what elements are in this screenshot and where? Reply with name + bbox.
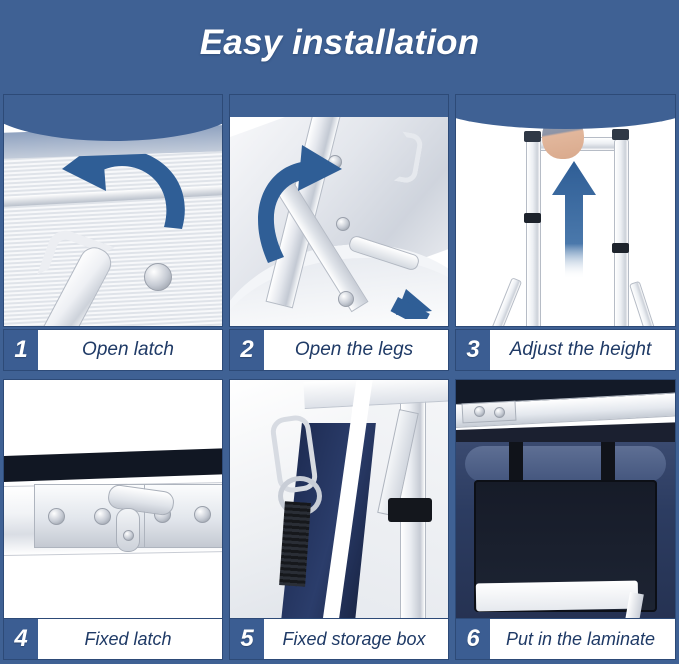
step-caption-1: 1 Open latch (3, 329, 223, 371)
blue-backdrop (455, 95, 676, 129)
pivot-screw (123, 530, 134, 541)
bracket-rivet (494, 407, 505, 418)
foot-strut (489, 277, 522, 327)
leg-cap-right (612, 129, 629, 140)
foot-strut (629, 281, 658, 327)
step-photo-2 (229, 94, 449, 327)
leg-tube-right (614, 139, 629, 327)
step-caption-text-4: Fixed latch (38, 619, 222, 659)
step-number-badge-4: 4 (4, 619, 38, 659)
step-caption-text-6: Put in the laminate (490, 619, 675, 659)
step-caption-text-2: Open the legs (264, 330, 448, 370)
step-caption-6: 6 Put in the laminate (455, 618, 676, 660)
step-caption-text-3: Adjust the height (490, 330, 675, 370)
step-number-badge-3: 3 (456, 330, 490, 370)
step-photo-6 (455, 379, 676, 622)
step-number-badge-6: 6 (456, 619, 490, 659)
step-caption-text-1: Open latch (38, 330, 222, 370)
plate-rivet (94, 508, 111, 525)
step-card-5: 5 Fixed storage box (226, 375, 452, 664)
box-top-rim (465, 446, 666, 482)
blue-backdrop (229, 95, 449, 117)
step-card-6: 6 Put in the laminate (452, 375, 679, 664)
step-photo-1 (3, 94, 223, 327)
steps-grid: 1 Open latch (0, 86, 679, 664)
step-card-3: 3 Adjust the height (452, 86, 679, 375)
title-bar: Easy installation (0, 0, 679, 86)
metal-bracket (462, 401, 517, 424)
page-title: Easy installation (200, 23, 480, 63)
height-collar-left (524, 213, 541, 223)
step-caption-2: 2 Open the legs (229, 329, 449, 371)
bracket-rivet (474, 406, 485, 417)
step-card-4: 4 Fixed latch (0, 375, 226, 664)
step-photo-5 (229, 379, 449, 622)
leg-cap-left (524, 131, 541, 142)
leg-tube-left (526, 139, 541, 327)
step-number-badge-2: 2 (230, 330, 264, 370)
push-arrow-icon (350, 245, 434, 319)
latch-knob (144, 263, 172, 291)
step-photo-4 (3, 379, 223, 622)
easy-installation-poster: Easy installation (0, 0, 679, 664)
step-caption-text-5: Fixed storage box (264, 619, 448, 659)
plate-rivet (194, 506, 211, 523)
step-card-2: 2 Open the legs (226, 86, 452, 375)
up-arrow-icon (552, 161, 596, 279)
plate-rivet (48, 508, 65, 525)
step-caption-5: 5 Fixed storage box (229, 618, 449, 660)
velcro-band (388, 498, 432, 522)
rotate-arrow-icon (246, 143, 356, 273)
step-caption-4: 4 Fixed latch (3, 618, 223, 660)
step-photo-3 (455, 94, 676, 327)
step-card-1: 1 Open latch (0, 86, 226, 375)
step-caption-3: 3 Adjust the height (455, 329, 676, 371)
step-number-badge-1: 1 (4, 330, 38, 370)
laminate-shelf (475, 581, 638, 612)
step-number-badge-5: 5 (230, 619, 264, 659)
height-collar-right (612, 243, 629, 253)
